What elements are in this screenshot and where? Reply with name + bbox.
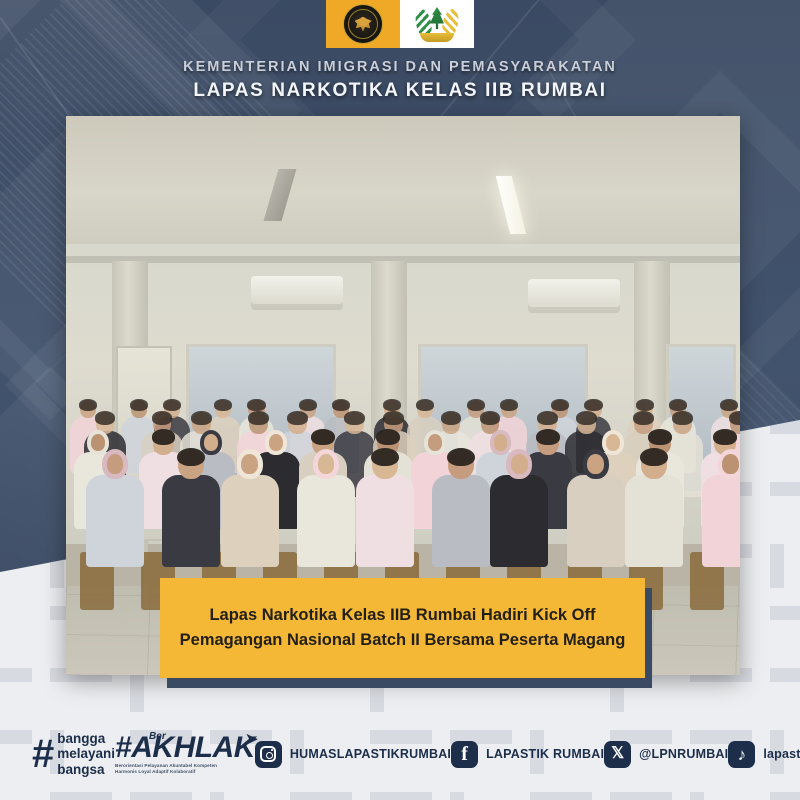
- photo-person-torso: [490, 475, 548, 567]
- photo-person-hair: [640, 448, 668, 467]
- social-x-twitter[interactable]: 𝕏 @LPNRUMBAI: [604, 741, 728, 768]
- photo-person: [490, 445, 548, 567]
- poster-header: KEMENTERIAN IMIGRASI DAN PEMASYARAKATAN …: [0, 0, 800, 102]
- facebook-icon[interactable]: f: [451, 741, 478, 768]
- akhlak-ber-label: Ber: [149, 731, 166, 742]
- photo-person: [702, 445, 740, 567]
- ministry-name: KEMENTERIAN IMIGRASI DAN PEMASYARAKATAN: [0, 59, 800, 75]
- akhlak-tagline: Berorientasi Pelayanan Akuntabel Kompete…: [115, 763, 235, 774]
- grid-cell: [770, 668, 800, 682]
- facebook-handle[interactable]: LAPASTIK RUMBAI: [486, 747, 604, 761]
- bangga-lines: bangga melayani bangsa: [57, 731, 115, 777]
- photo-person-hair: [177, 448, 205, 467]
- grid-cell: [770, 606, 800, 620]
- photo-person-hair: [344, 411, 365, 424]
- photo-person: [567, 445, 625, 567]
- social-tiktok[interactable]: ♪ lapastikrumbai: [728, 741, 800, 768]
- tiktok-handle[interactable]: lapastikrumbai: [763, 747, 800, 761]
- akhlak-hash-icon: #: [115, 731, 131, 764]
- photo-person-torso: [356, 475, 414, 567]
- photo-person-face: [318, 454, 335, 474]
- logo-row: [0, 0, 800, 48]
- photo-person-hair: [287, 411, 308, 424]
- caption-line-2: Pemagangan Nasional Batch II Bersama Pes…: [180, 628, 626, 653]
- photo-person-torso: [221, 475, 279, 567]
- photo-person-face: [587, 454, 604, 474]
- photo-person-face: [107, 454, 124, 474]
- unit-name: LAPAS NARKOTIKA KELAS IIB RUMBAI: [0, 80, 800, 102]
- tiktok-icon[interactable]: ♪: [728, 741, 755, 768]
- photo-person-hair: [371, 448, 399, 467]
- photo-person-hair: [447, 448, 475, 467]
- grid-cell: [770, 544, 784, 588]
- poster-root: KEMENTERIAN IMIGRASI DAN PEMASYARAKATAN …: [0, 0, 800, 800]
- photo-air-conditioner-2: [528, 279, 620, 313]
- photo-person-hair: [576, 411, 597, 424]
- photo-person-hair: [152, 429, 176, 445]
- x-twitter-handle[interactable]: @LPNRUMBAI: [639, 747, 728, 761]
- photo-person-hair: [480, 411, 501, 424]
- photo-person-hair: [672, 411, 693, 424]
- instagram-icon[interactable]: [255, 741, 282, 768]
- caption-text: Lapas Narkotika Kelas IIB Rumbai Hadiri …: [180, 603, 626, 653]
- photo-person-hair: [537, 411, 558, 424]
- photo-person: [432, 445, 490, 567]
- bangga-line-1: bangga: [57, 731, 115, 746]
- photo-person-torso: [86, 475, 144, 567]
- bangga-line-2: melayani: [57, 746, 115, 761]
- caption-box: Lapas Narkotika Kelas IIB Rumbai Hadiri …: [160, 578, 645, 678]
- photo-person-hair: [648, 429, 672, 445]
- photo-air-conditioner-1: [251, 276, 343, 310]
- grid-cell: [770, 482, 800, 496]
- photo-person-hair: [536, 429, 560, 445]
- photo-person: [221, 445, 279, 567]
- photo-person-hair: [729, 411, 740, 424]
- photo-person-hair: [633, 411, 654, 424]
- x-twitter-icon[interactable]: 𝕏: [604, 741, 631, 768]
- garuda-icon: [355, 17, 372, 32]
- photo-person-hair: [713, 429, 737, 445]
- photo-person-torso: [625, 475, 683, 567]
- photo-person: [356, 445, 414, 567]
- photo-person: [86, 445, 144, 567]
- akhlak-wordmark: #AKHLAK: [115, 734, 255, 763]
- photo-person: [297, 445, 355, 567]
- pemasyarakatan-logo-icon: [414, 4, 460, 44]
- caption-line-1: Lapas Narkotika Kelas IIB Rumbai Hadiri …: [180, 603, 626, 628]
- photo-person-torso: [567, 475, 625, 567]
- photo-person-hair: [191, 411, 212, 424]
- kementerian-logo-box: [326, 0, 400, 48]
- hash-icon: #: [32, 738, 53, 770]
- instagram-handle[interactable]: HUMASLAPASTIKRUMBAI: [290, 747, 451, 761]
- photo-person-torso: [432, 475, 490, 567]
- photo-person: [625, 445, 683, 567]
- social-instagram[interactable]: HUMASLAPASTIKRUMBAI: [255, 741, 451, 768]
- akhlak-arrow-icon: ➤: [245, 730, 258, 748]
- photo-person-hair: [376, 429, 400, 445]
- photo-person: [162, 445, 220, 567]
- photo-ceiling: [66, 116, 740, 244]
- photo-person-hair: [152, 411, 173, 424]
- photo-person-hair: [311, 429, 335, 445]
- poster-footer: # bangga melayani bangsa #AKHLAK Berorie…: [0, 708, 800, 800]
- photo-person-hair: [441, 411, 462, 424]
- photo-person-torso: [702, 475, 740, 567]
- photo-person-hair: [383, 411, 404, 424]
- photo-person-face: [722, 454, 739, 474]
- akhlak-tagline-line-2: Harmonis Loyal Adaptif Kolaboratif: [115, 769, 235, 775]
- bangga-line-3: bangsa: [57, 762, 115, 777]
- social-facebook[interactable]: f LAPASTIK RUMBAI: [451, 741, 604, 768]
- photo-person-torso: [297, 475, 355, 567]
- photo-person-face: [511, 454, 528, 474]
- photo-person-hair: [95, 411, 116, 424]
- grid-cell: [0, 668, 32, 682]
- pemasyarakatan-logo-box: [400, 0, 474, 48]
- photo-person-hair: [248, 411, 269, 424]
- ribbon-icon: [420, 33, 454, 42]
- photo-person-face: [241, 454, 258, 474]
- ministry-seal-icon: [343, 4, 383, 44]
- ber-akhlak-logo: #AKHLAK Berorientasi Pelayanan Akuntabel…: [115, 734, 255, 775]
- photo-person-torso: [162, 475, 220, 567]
- bangga-melayani-bangsa-logo: # bangga melayani bangsa: [32, 731, 115, 777]
